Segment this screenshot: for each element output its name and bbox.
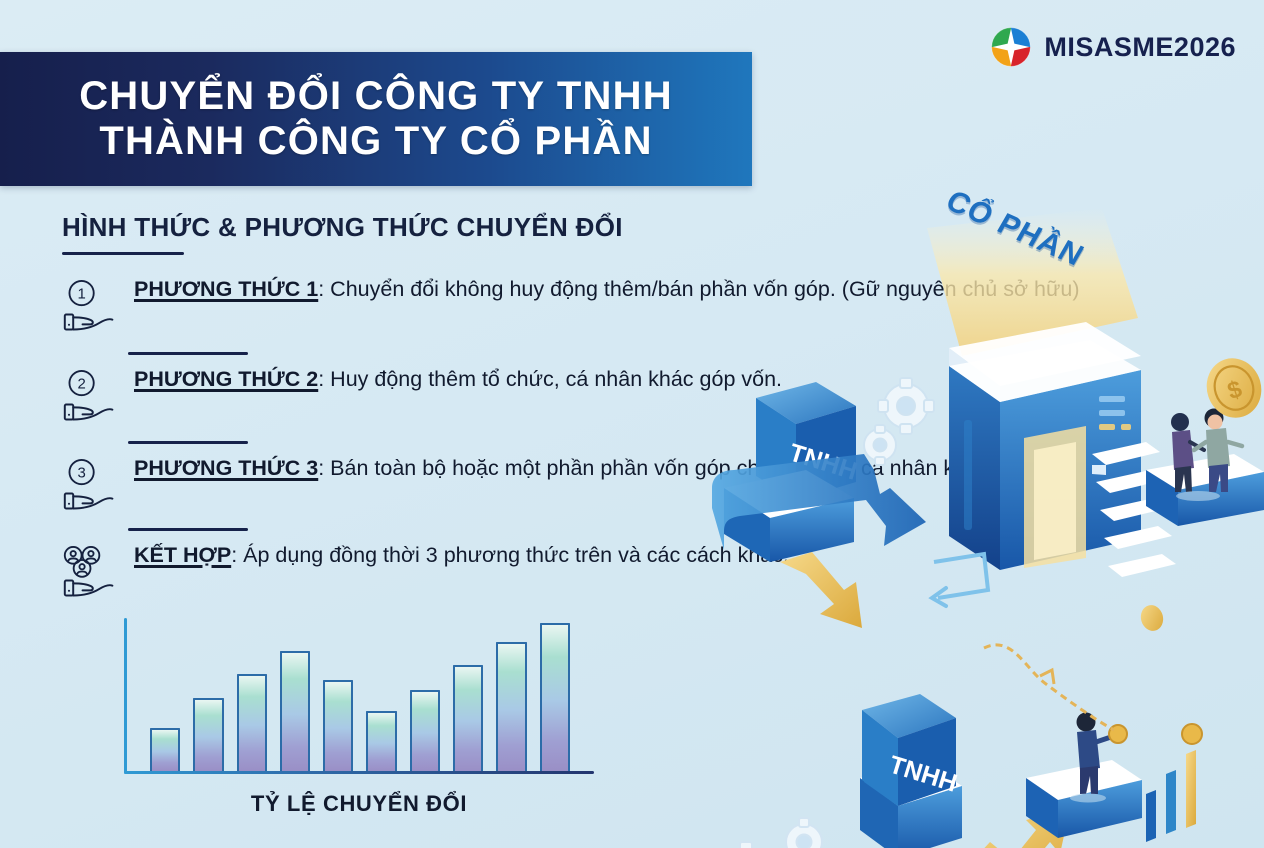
thin-return-arrow — [932, 554, 988, 606]
chart-bar — [193, 698, 223, 772]
circled-number-2-icon: 2 — [62, 368, 118, 428]
gold-coin-small — [1138, 603, 1166, 634]
item-2-lead: PHƯƠNG THỨC 2 — [134, 367, 318, 391]
brand-logo: MISASME2026 — [990, 26, 1236, 68]
gear-pair-upper — [864, 378, 934, 465]
chart-bars — [150, 621, 570, 771]
chart-y-axis — [124, 618, 127, 774]
item-1-lead: PHƯƠNG THỨC 1 — [134, 277, 318, 301]
item-1-icons: 1 — [62, 276, 120, 343]
chart-bar — [410, 690, 440, 771]
item-2-text: PHƯƠNG THỨC 2: Huy động thêm tổ chức, cá… — [134, 366, 782, 433]
chart-bar — [150, 728, 180, 772]
svg-text:3: 3 — [77, 465, 85, 482]
illustration-svg: $ TNHH — [694, 170, 1264, 848]
tnhh-cube-lower: TNHH — [860, 694, 962, 848]
list-item-combined: KẾT HỢP: Áp dụng đồng thời 3 phương thức… — [62, 542, 789, 609]
misa-logo-icon — [990, 26, 1032, 68]
gold-arrow-down — [780, 552, 862, 628]
circled-number-1-icon: 1 — [62, 278, 118, 338]
item-4-lead: KẾT HỢP — [134, 543, 231, 567]
handshake-platform — [1146, 454, 1264, 526]
chart-title: TỶ LỆ CHUYỂN ĐỔI — [124, 791, 594, 817]
chart-bar — [453, 665, 483, 772]
brand-name: MISASME2026 — [1044, 32, 1236, 63]
list-item-method-2: 2 PHƯƠNG THỨC 2: Huy động thêm tổ chức, … — [62, 366, 782, 433]
item-3-icons: 3 — [62, 455, 120, 522]
chart-bar — [323, 680, 353, 772]
chart-bar — [496, 642, 526, 771]
chart-bar — [237, 674, 267, 772]
chart-bar — [280, 651, 310, 771]
svg-text:2: 2 — [77, 376, 85, 393]
item-4-text: KẾT HỢP: Áp dụng đồng thời 3 phương thức… — [134, 542, 789, 609]
section-heading: HÌNH THỨC & PHƯƠNG THỨC CHUYỂN ĐỔI — [62, 212, 623, 243]
mini-bar-chart — [1146, 724, 1202, 842]
title-line-2: THÀNH CÔNG TY CỔ PHẦN — [99, 119, 652, 164]
circled-number-3-icon: 3 — [62, 457, 118, 517]
hand-offer-icon — [65, 405, 113, 420]
hand-offer-icon — [65, 315, 113, 330]
chart-bar — [540, 623, 570, 772]
item-4-icons — [62, 542, 120, 609]
item-3-lead: PHƯƠNG THỨC 3 — [134, 456, 318, 480]
conversion-rate-chart: TỶ LỆ CHUYỂN ĐỔI — [124, 612, 594, 817]
isometric-illustration: $ TNHH — [694, 170, 1264, 848]
item-3-separator — [128, 528, 248, 531]
hand-offer-icon — [65, 494, 113, 509]
item-1-separator — [128, 352, 248, 355]
hand-offer-icon — [65, 581, 113, 596]
item-2-separator — [128, 441, 248, 444]
title-banner: CHUYỂN ĐỔI CÔNG TY TNHH THÀNH CÔNG TY CỔ… — [0, 52, 752, 186]
gold-flow-path — [984, 645, 1114, 730]
gear-pair-lower — [718, 818, 822, 848]
heading-underline — [62, 252, 184, 255]
title-line-1: CHUYỂN ĐỔI CÔNG TY TNHH — [79, 74, 673, 119]
infographic-canvas: CHUYỂN ĐỔI CÔNG TY TNHH THÀNH CÔNG TY CỔ… — [0, 0, 1264, 848]
svg-text:1: 1 — [77, 286, 85, 303]
item-2-icons: 2 — [62, 366, 120, 433]
chart-x-axis — [124, 771, 594, 774]
chart-bar — [366, 711, 396, 771]
people-group-icon — [62, 544, 118, 604]
